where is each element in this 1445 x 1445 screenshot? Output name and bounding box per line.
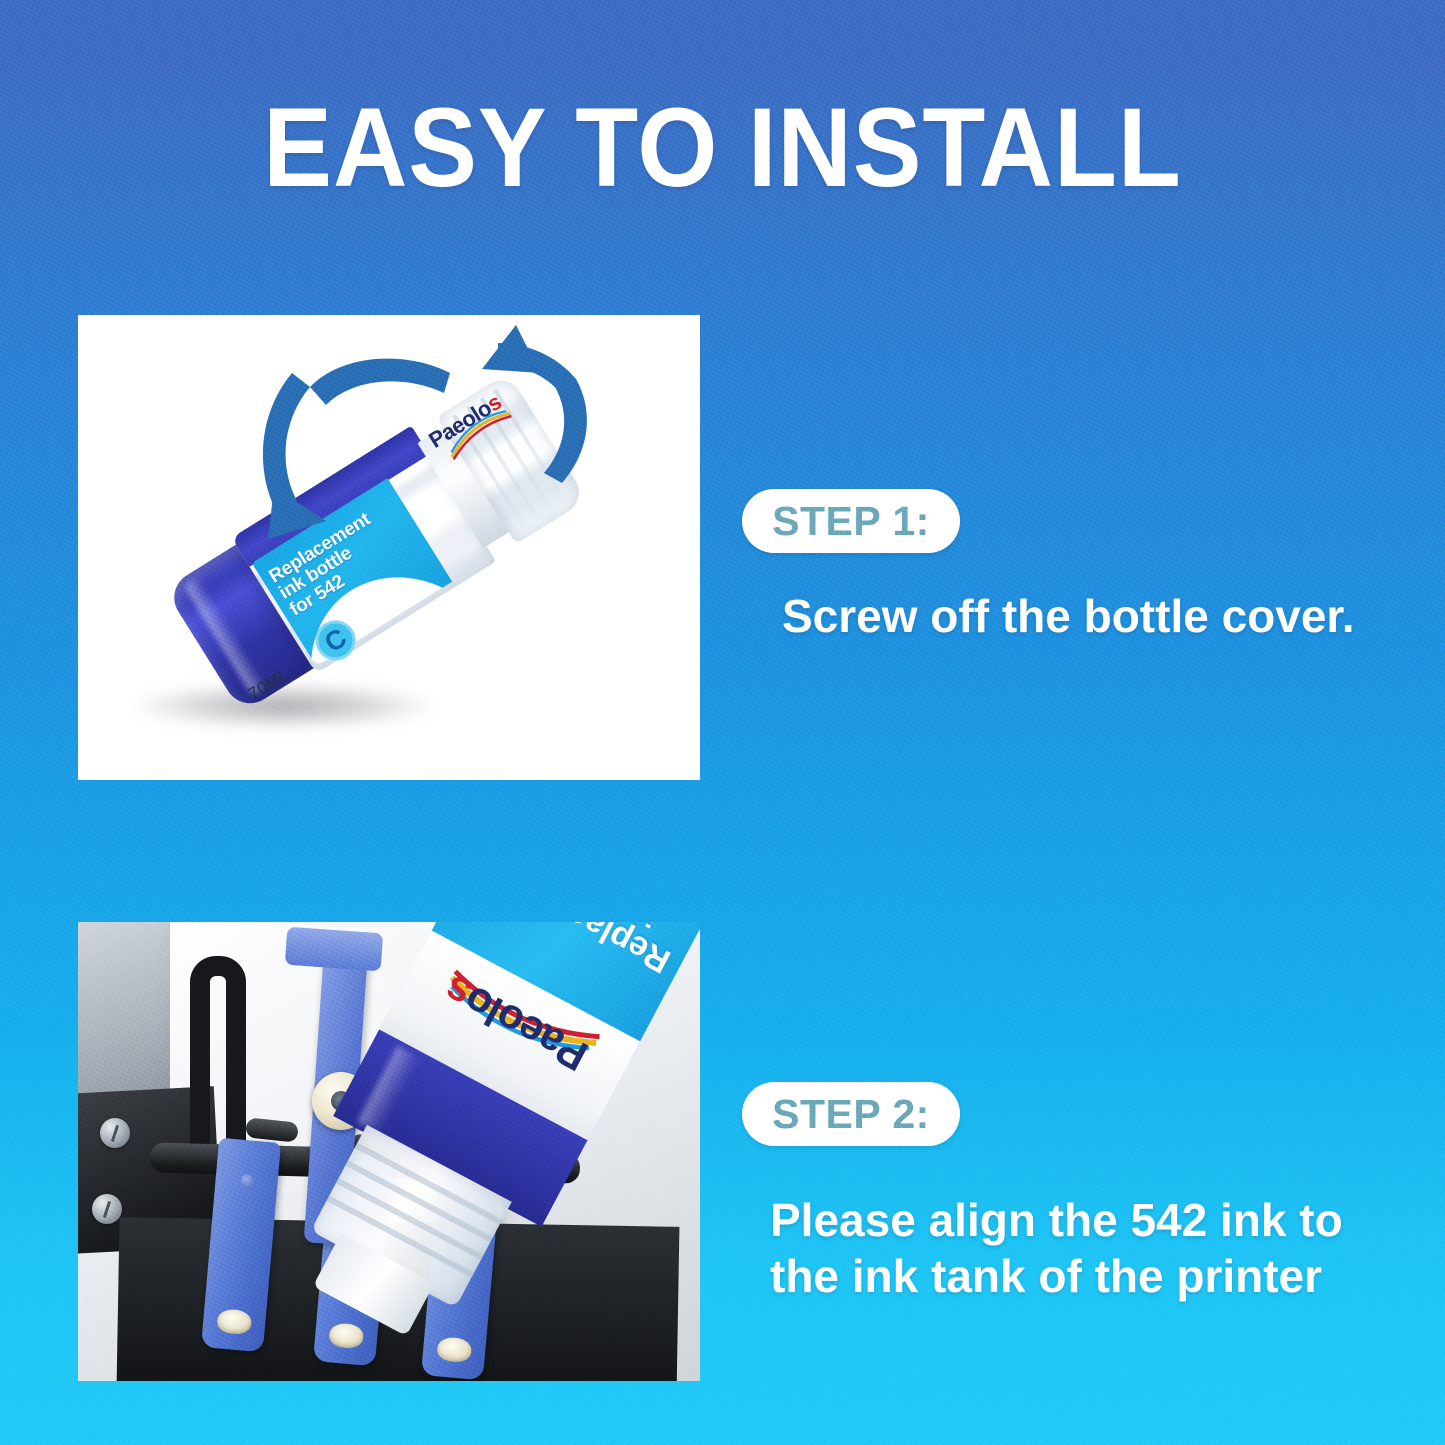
ink-bottle-illustration: Replacement ink bottle for 542 Paeolos 7… <box>158 372 578 721</box>
step-1-text: Screw off the bottle cover. <box>782 588 1382 644</box>
step-1-badge: STEP 1: <box>742 489 960 553</box>
page-title: EASY TO INSTALL <box>58 92 1387 204</box>
step-2-badge: STEP 2: <box>742 1082 960 1146</box>
step-2-text-line-2: the ink tank of the printer <box>770 1248 1380 1304</box>
step-2-text: Please align the 542 ink to the ink tank… <box>770 1192 1380 1304</box>
printer-black-hook <box>190 956 246 1156</box>
step-2-photo: Replacement ink bottle Paeolos <box>78 922 700 1381</box>
printer-screw-icon <box>100 1118 130 1148</box>
printer-screw-icon <box>92 1194 122 1224</box>
step-2-text-line-1: Please align the 542 ink to <box>770 1192 1380 1248</box>
infographic-root: EASY TO INSTALL Replacement ink bottle f… <box>0 0 1445 1445</box>
ink-port-guide-top <box>285 927 383 972</box>
step-1-photo: Replacement ink bottle for 542 Paeolos 7… <box>78 315 700 780</box>
